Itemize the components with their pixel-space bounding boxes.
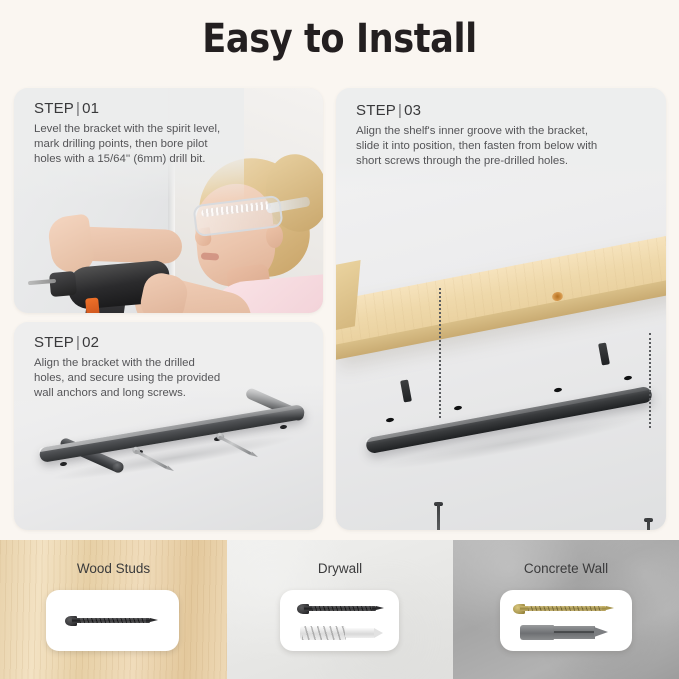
anchor-threads — [302, 626, 346, 640]
step-01-heading: STEP|01 — [34, 100, 99, 117]
screw-tip — [376, 606, 384, 610]
step-02-number: 02 — [82, 334, 99, 351]
step-01-number: 01 — [82, 100, 99, 117]
step-03-body: Align the shelf's inner groove with the … — [356, 124, 648, 170]
screw-tip — [150, 618, 158, 622]
step-03-label: STEP — [356, 102, 396, 119]
step-02-label: STEP — [34, 334, 74, 351]
bracket-hole-1 — [60, 461, 68, 466]
anchor-tip — [594, 627, 608, 637]
grey-expansion-anchor-icon — [520, 625, 610, 641]
screw-threads — [80, 618, 146, 623]
anchor-split-slot — [554, 631, 594, 633]
screw-tip — [166, 465, 175, 472]
wood-studs-label: Wood Studs — [0, 561, 227, 576]
step-03-separator: | — [396, 102, 404, 119]
screw-shaft — [437, 502, 440, 530]
step-03-card: STEP|03 Align the shelf's inner groove w… — [336, 88, 666, 530]
step-01-card: STEP|01 Level the bracket with the spiri… — [14, 88, 323, 313]
anchor-collar — [520, 625, 554, 640]
screw-tip — [606, 606, 614, 610]
bracket-hole-4 — [280, 424, 288, 429]
concrete-wall-hardware-card — [500, 590, 632, 651]
step-01-body: Level the bracket with the spirit level,… — [34, 122, 239, 168]
bracket-hole-1 — [386, 417, 395, 422]
white-self-drilling-anchor-icon — [300, 624, 382, 642]
bracket-hole-3 — [554, 387, 563, 392]
step-02-body: Align the bracket with the drilled holes… — [34, 356, 249, 402]
step-02-card: STEP|02 Align the bracket with the drill… — [14, 322, 323, 530]
bracket-tab-left — [400, 379, 412, 402]
drywall-hardware-card — [280, 590, 399, 651]
step-03-heading: STEP|03 — [356, 102, 421, 119]
screw-threads — [312, 606, 372, 611]
anchor-body — [345, 628, 375, 638]
anchor-tip — [374, 628, 383, 638]
step-03-number: 03 — [404, 102, 421, 119]
step-02-heading: STEP|02 — [34, 334, 99, 351]
lips — [201, 252, 219, 260]
page-title: Easy to Install — [41, 16, 639, 62]
screw-tip — [250, 451, 259, 458]
wood-studs-hardware-card — [46, 590, 179, 651]
screw-shaft — [647, 518, 650, 530]
step-01-label: STEP — [34, 100, 74, 117]
wall-type-strip: Wood Studs Drywall — [0, 540, 679, 679]
drywall-label: Drywall — [227, 561, 453, 576]
drill-trigger — [85, 297, 100, 313]
bracket-tab-right — [598, 342, 610, 365]
bracket-hole-2 — [454, 405, 463, 410]
step-01-separator: | — [74, 100, 82, 117]
alignment-guide-right — [649, 333, 651, 428]
alignment-guide-left — [439, 288, 441, 418]
step-02-illustration — [14, 322, 323, 530]
drill-chuck — [49, 271, 77, 297]
infographic-page: Easy to Install — [0, 0, 679, 679]
bracket-hole-4 — [624, 375, 633, 380]
step-02-separator: | — [74, 334, 82, 351]
concrete-wall-label: Concrete Wall — [453, 561, 679, 576]
screw-threads — [528, 606, 602, 611]
